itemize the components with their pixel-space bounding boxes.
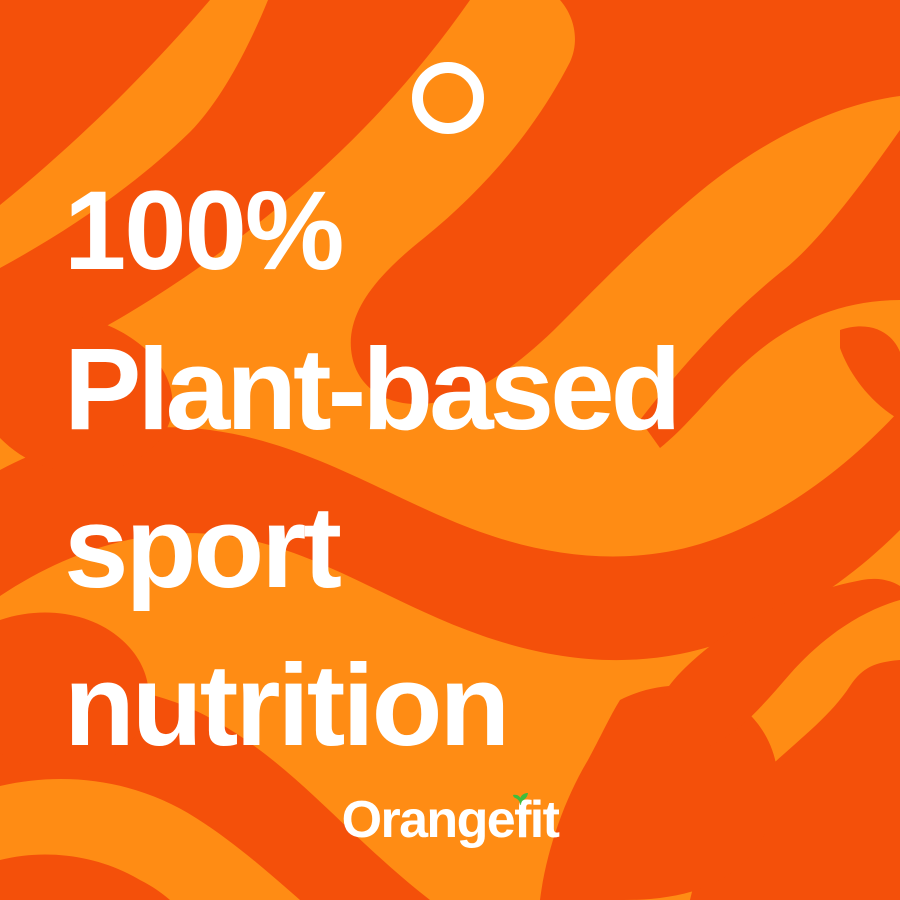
- poster-content: 100% Plant-based sport nutrition Orangef…: [0, 0, 900, 900]
- wordmark-inner: Orangefit: [342, 792, 559, 848]
- promo-poster: 100% Plant-based sport nutrition Orangef…: [0, 0, 900, 900]
- headline-line-1: 100%: [64, 152, 874, 310]
- brand-wordmark: Orangefit: [0, 792, 900, 852]
- headline-line-3: sport: [64, 468, 874, 626]
- ring-circle-icon: [412, 62, 484, 134]
- headline-line-4: nutrition: [64, 626, 874, 784]
- leaf-sprout-icon: [513, 793, 528, 805]
- headline-line-2: Plant-based: [64, 310, 874, 468]
- headline-block: 100% Plant-based sport nutrition: [64, 152, 874, 784]
